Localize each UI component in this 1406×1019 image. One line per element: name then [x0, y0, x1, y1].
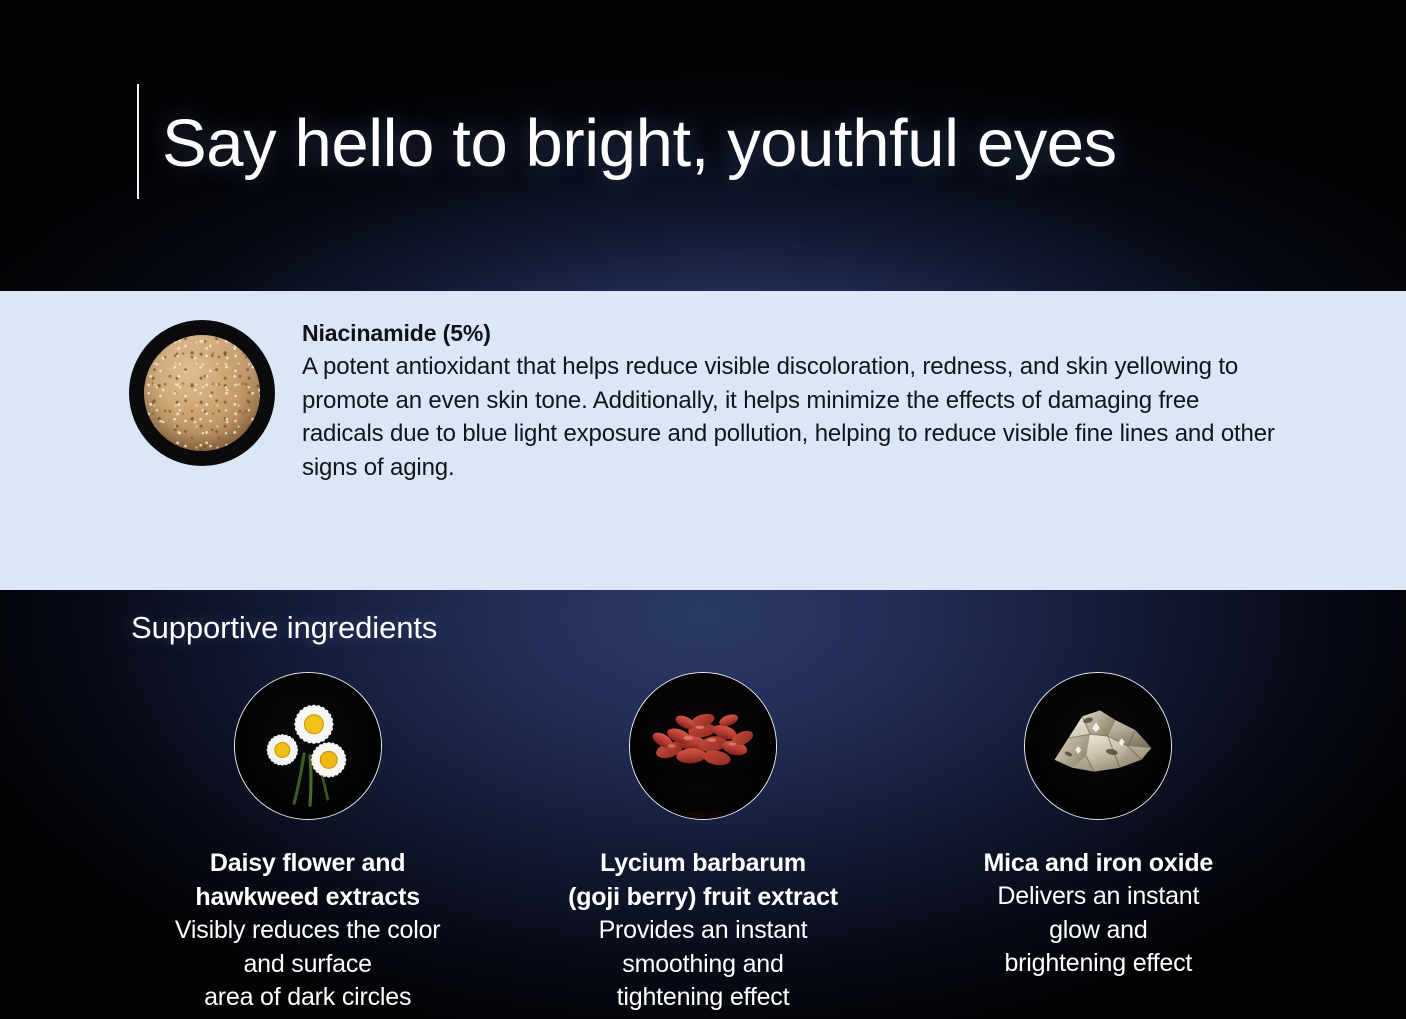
supportive-heading-wrap: Supportive ingredients: [0, 590, 1406, 646]
hero-section: Say hello to bright, youthful eyes: [0, 0, 1406, 291]
mica-illustration-icon: [1025, 673, 1171, 819]
supportive-card-description: Provides an instant smoothing and tighte…: [599, 914, 808, 1015]
supportive-card-daisy: Daisy flower and hawkweed extracts Visib…: [110, 672, 505, 1015]
supportive-card-description: Visibly reduces the color and surface ar…: [175, 914, 441, 1015]
supportive-card-title: Daisy flower and hawkweed extracts: [195, 846, 420, 914]
supportive-card-goji: Lycium barbarum (goji berry) fruit extra…: [505, 672, 900, 1015]
primary-ingredient-row: Niacinamide (5%) A potent antioxidant th…: [129, 320, 1277, 484]
daisy-illustration-icon: [235, 673, 381, 819]
hero-inner: Say hello to bright, youthful eyes: [137, 0, 1117, 291]
supportive-ingredients-section: Supportive ingredients: [0, 590, 1406, 1019]
primary-ingredient-heading: Niacinamide (5%): [302, 320, 1277, 347]
supportive-cards: Daisy flower and hawkweed extracts Visib…: [0, 672, 1406, 1015]
goji-berry-icon: [629, 672, 777, 820]
supportive-card-description: Delivers an instant glow and brightening…: [997, 880, 1199, 981]
daisy-flower-icon: [234, 672, 382, 820]
supportive-section-title: Supportive ingredients: [131, 610, 1406, 646]
primary-ingredient-section: Niacinamide (5%) A potent antioxidant th…: [0, 291, 1406, 590]
niacinamide-powder-icon: [129, 320, 275, 466]
supportive-card-title: Mica and iron oxide: [984, 846, 1214, 880]
supportive-card-title: Lycium barbarum (goji berry) fruit extra…: [568, 846, 838, 914]
goji-illustration-icon: [630, 673, 776, 819]
supportive-card-mica: Mica and iron oxide Delivers an instant …: [901, 672, 1296, 1015]
page-title: Say hello to bright, youthful eyes: [162, 110, 1117, 177]
mica-mineral-icon: [1024, 672, 1172, 820]
primary-ingredient-text: Niacinamide (5%) A potent antioxidant th…: [302, 320, 1277, 484]
powder-texture-icon: [144, 335, 260, 451]
primary-ingredient-body: A potent antioxidant that helps reduce v…: [302, 350, 1277, 484]
ingredient-infographic: Say hello to bright, youthful eyes Niaci…: [0, 0, 1406, 1019]
accent-rule-icon: [137, 84, 139, 199]
